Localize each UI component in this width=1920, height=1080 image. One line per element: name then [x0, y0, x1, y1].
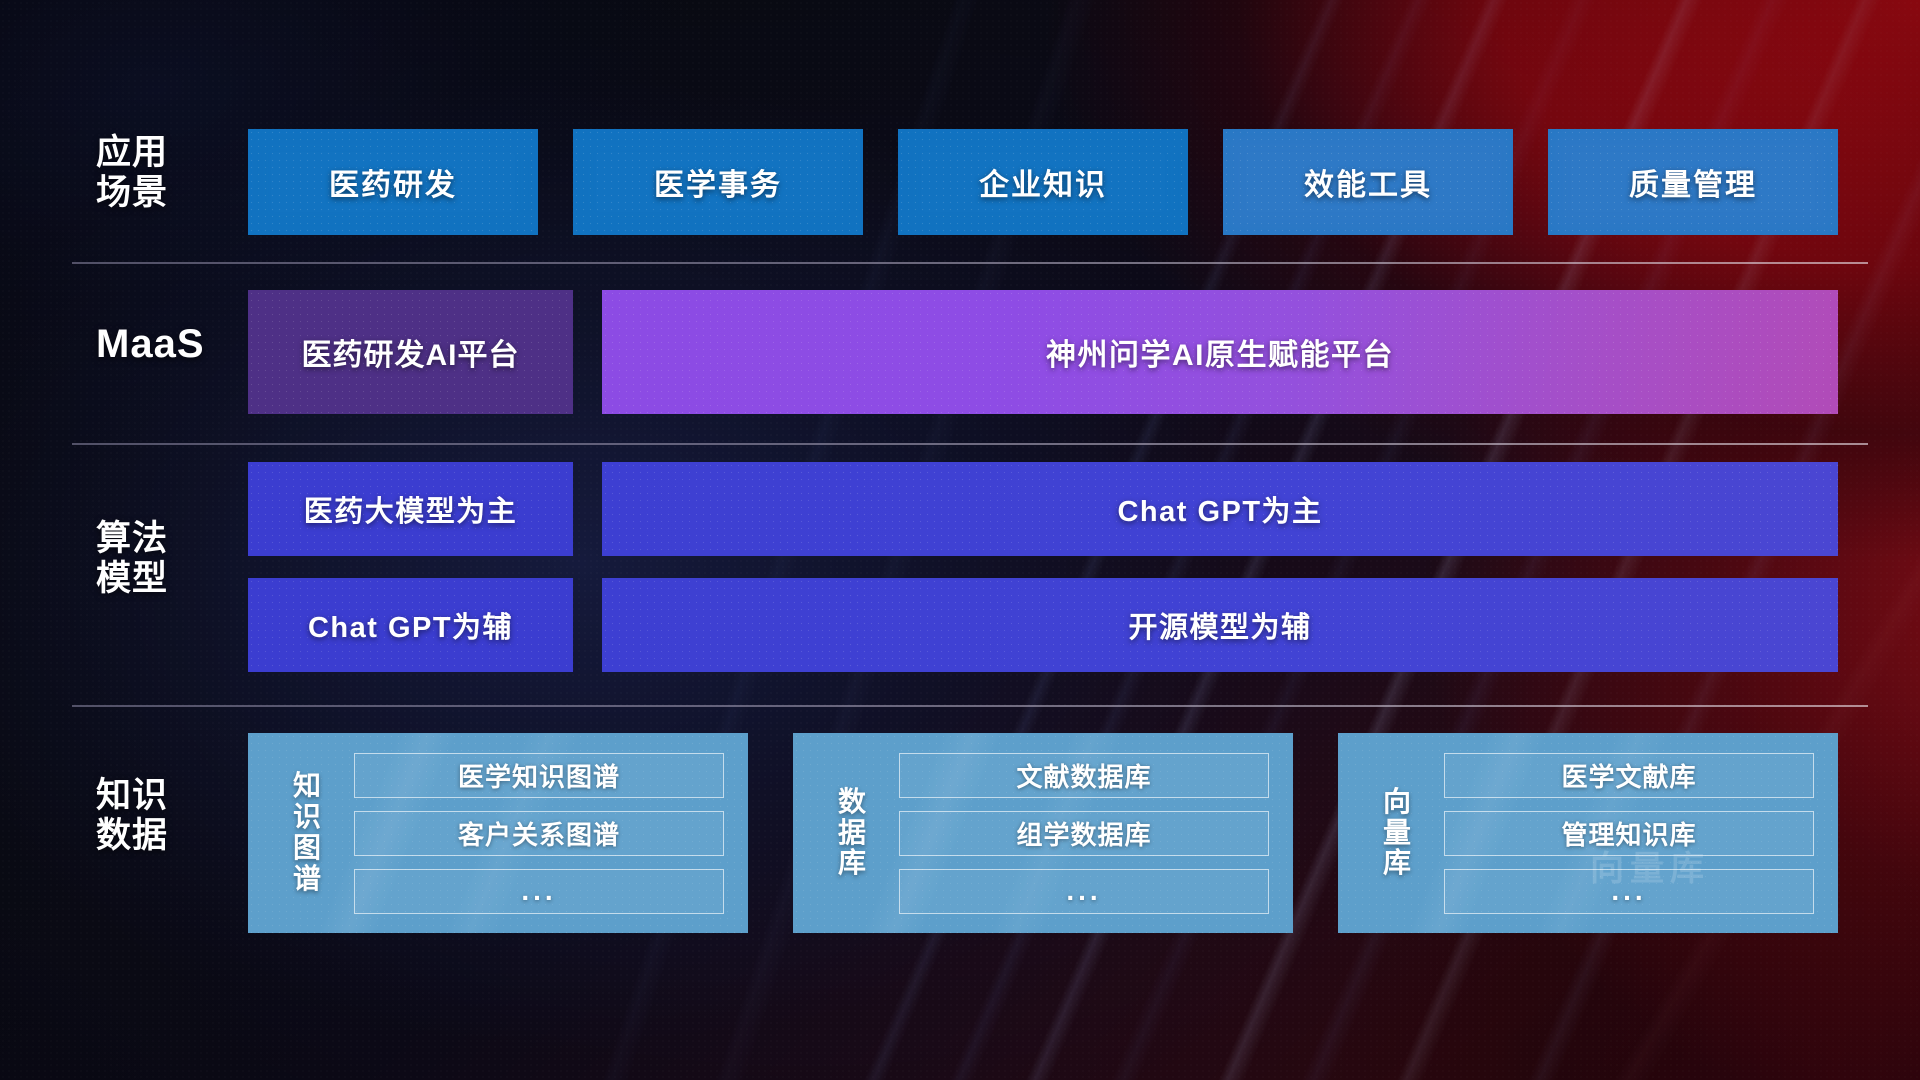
- row-label-line: MaaS: [96, 322, 226, 368]
- group-database[interactable]: 数 据 库 文献数据库 组学数据库 ...: [793, 733, 1293, 933]
- group-vertical-label-database: 数 据 库: [823, 787, 881, 879]
- row-label-line: 数据: [96, 816, 226, 856]
- tile-maas-pharma-ai-platform[interactable]: 医药研发AI平台: [248, 290, 573, 414]
- tile-algo-chatgpt-primary[interactable]: Chat GPT为主: [602, 462, 1838, 556]
- list-item[interactable]: 组学数据库: [899, 811, 1269, 856]
- vertical-label-char: 识: [278, 802, 336, 833]
- list-item[interactable]: 文献数据库: [899, 753, 1269, 798]
- vertical-label-char: 库: [1368, 848, 1426, 879]
- tile-app-scenario-5[interactable]: 质量管理: [1548, 129, 1838, 235]
- group-knowledge-graph[interactable]: 知 识 图 谱 医学知识图谱 客户关系图谱 ...: [248, 733, 748, 933]
- tile-label: 质量管理: [1629, 160, 1757, 204]
- row-label-line: 算法: [96, 519, 226, 559]
- list-item-more[interactable]: ...: [899, 869, 1269, 914]
- tile-label: 医药大模型为主: [304, 488, 518, 530]
- group-vector-store[interactable]: 向量库 向 量 库 医学文献库 管理知识库 ...: [1338, 733, 1838, 933]
- row-label-line: 应用: [96, 133, 226, 173]
- row-label-line: 模型: [96, 559, 226, 599]
- list-item-more[interactable]: ...: [354, 869, 724, 914]
- vertical-label-char: 图: [278, 833, 336, 864]
- tile-algo-opensource-secondary[interactable]: 开源模型为辅: [602, 578, 1838, 672]
- tile-label: 医药研发AI平台: [302, 330, 520, 374]
- vertical-label-char: 库: [823, 848, 881, 879]
- list-item[interactable]: 客户关系图谱: [354, 811, 724, 856]
- list-item-more[interactable]: ...: [1444, 869, 1814, 914]
- group-item-list: 医学知识图谱 客户关系图谱 ...: [354, 753, 724, 914]
- divider-1: [72, 262, 1868, 264]
- row-maas: MaaS 医药研发AI平台 神州问学AI原生赋能平台: [0, 290, 1920, 414]
- row-label-line: 知识: [96, 776, 226, 816]
- tile-label: 医药研发: [329, 160, 457, 204]
- vertical-label-char: 向: [1368, 787, 1426, 818]
- list-item[interactable]: 医学文献库: [1444, 753, 1814, 798]
- vertical-label-char: 谱: [278, 864, 336, 895]
- tile-algo-pharma-model-primary[interactable]: 医药大模型为主: [248, 462, 573, 556]
- divider-2: [72, 443, 1868, 445]
- row-application-scenarios: 应用 场景 医药研发 医学事务 企业知识 效能工具 质量管理: [0, 129, 1920, 235]
- list-item[interactable]: 医学知识图谱: [354, 753, 724, 798]
- vertical-label-char: 数: [823, 787, 881, 818]
- tile-label: Chat GPT为主: [1117, 488, 1322, 530]
- tile-maas-shenzhou-platform[interactable]: 神州问学AI原生赋能平台: [602, 290, 1838, 414]
- tile-label: 医学事务: [654, 160, 782, 204]
- row-label-algorithm-model: 算法 模型: [96, 519, 226, 599]
- tile-label: 效能工具: [1304, 160, 1432, 204]
- group-item-list: 医学文献库 管理知识库 ...: [1444, 753, 1814, 914]
- list-item[interactable]: 管理知识库: [1444, 811, 1814, 856]
- vertical-label-char: 知: [278, 771, 336, 802]
- row-label-knowledge-data: 知识 数据: [96, 776, 226, 856]
- tile-label: Chat GPT为辅: [308, 604, 513, 646]
- row-algorithm-model: 算法 模型 医药大模型为主 Chat GPT为辅 Chat GPT为主 开源模型…: [0, 462, 1920, 692]
- tile-label: 开源模型为辅: [1128, 604, 1311, 646]
- vertical-label-char: 据: [823, 818, 881, 849]
- row-label-line: 场景: [96, 173, 226, 213]
- row-label-maas: MaaS: [96, 322, 226, 368]
- tile-app-scenario-2[interactable]: 医学事务: [573, 129, 863, 235]
- tile-label: 企业知识: [979, 160, 1107, 204]
- tile-app-scenario-1[interactable]: 医药研发: [248, 129, 538, 235]
- tile-app-scenario-4[interactable]: 效能工具: [1223, 129, 1513, 235]
- tile-algo-chatgpt-secondary[interactable]: Chat GPT为辅: [248, 578, 573, 672]
- row-label-application-scenarios: 应用 场景: [96, 133, 226, 213]
- tile-app-scenario-3[interactable]: 企业知识: [898, 129, 1188, 235]
- row-knowledge-data: 知识 数据 知 识 图 谱 医学知识图谱 客户关系图谱 ... 数: [0, 733, 1920, 933]
- group-vertical-label-vector-store: 向 量 库: [1368, 787, 1426, 879]
- group-item-list: 文献数据库 组学数据库 ...: [899, 753, 1269, 914]
- architecture-diagram: 应用 场景 医药研发 医学事务 企业知识 效能工具 质量管理 MaaS: [0, 0, 1920, 1080]
- divider-3: [72, 705, 1868, 707]
- vertical-label-char: 量: [1368, 818, 1426, 849]
- group-vertical-label-knowledge-graph: 知 识 图 谱: [278, 771, 336, 894]
- tile-label: 神州问学AI原生赋能平台: [1046, 330, 1394, 374]
